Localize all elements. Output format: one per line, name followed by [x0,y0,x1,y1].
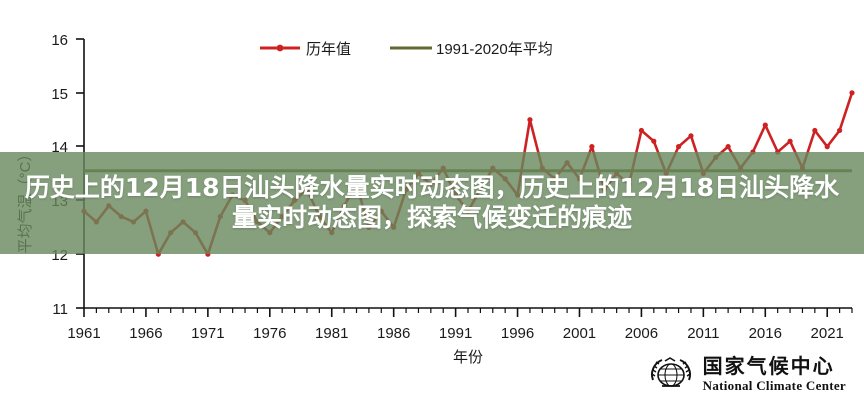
x-tick-2006: 2006 [625,325,658,342]
national-climate-center-logo: 国家气候中心 National Climate Center [648,356,846,392]
logo-wordmark: 国家气候中心 National Climate Center [703,356,846,392]
data-point-2009 [676,144,681,149]
x-tick-1986: 1986 [377,325,410,342]
x-tick-2021: 2021 [811,325,844,342]
y-tick-11: 11 [52,301,68,318]
data-point-2023 [849,90,854,95]
x-tick-1961: 1961 [67,325,100,342]
y-tick-16: 16 [51,32,68,49]
globe-wheat-emblem-icon [648,356,694,392]
legend-label-average: 1991-2020年平均 [436,41,553,58]
data-point-2010 [688,133,693,138]
legend-marker-annual [277,45,284,52]
x-tick-1966: 1966 [129,325,162,342]
x-tick-1971: 1971 [191,325,224,342]
x-tick-2001: 2001 [563,325,596,342]
data-point-2006 [639,128,644,133]
screenshot-root: 16 15 14 13 12 11 平均气温（°C） 1961196619711… [0,0,864,400]
overlay-title-text: 历史上的12月18日汕头降水量实时动态图，历史上的12月18日汕头降水量实时动态… [14,173,850,234]
data-point-1997 [527,117,532,122]
data-point-2002 [589,144,594,149]
data-point-2007 [651,139,656,144]
x-tick-2011: 2011 [687,325,719,342]
overlay-title-banner: 历史上的12月18日汕头降水量实时动态图，历史上的12月18日汕头降水量实时动态… [0,152,864,254]
data-point-2021 [825,144,830,149]
data-point-2016 [763,122,768,127]
data-point-2022 [837,128,842,133]
y-tick-15: 15 [51,86,68,103]
data-point-2018 [787,139,792,144]
x-axis-title: 年份 [453,349,483,366]
data-point-2020 [812,128,817,133]
legend-label-annual: 历年值 [306,41,351,58]
x-tick-1991: 1991 [439,325,472,342]
logo-text-en: National Climate Center [703,379,846,392]
x-tick-1996: 1996 [501,325,534,342]
logo-text-cn: 国家气候中心 [703,356,846,376]
data-point-2013 [726,144,731,149]
x-tick-2016: 2016 [749,325,782,342]
x-tick-1981: 1981 [315,325,348,342]
x-tick-1976: 1976 [253,325,286,342]
